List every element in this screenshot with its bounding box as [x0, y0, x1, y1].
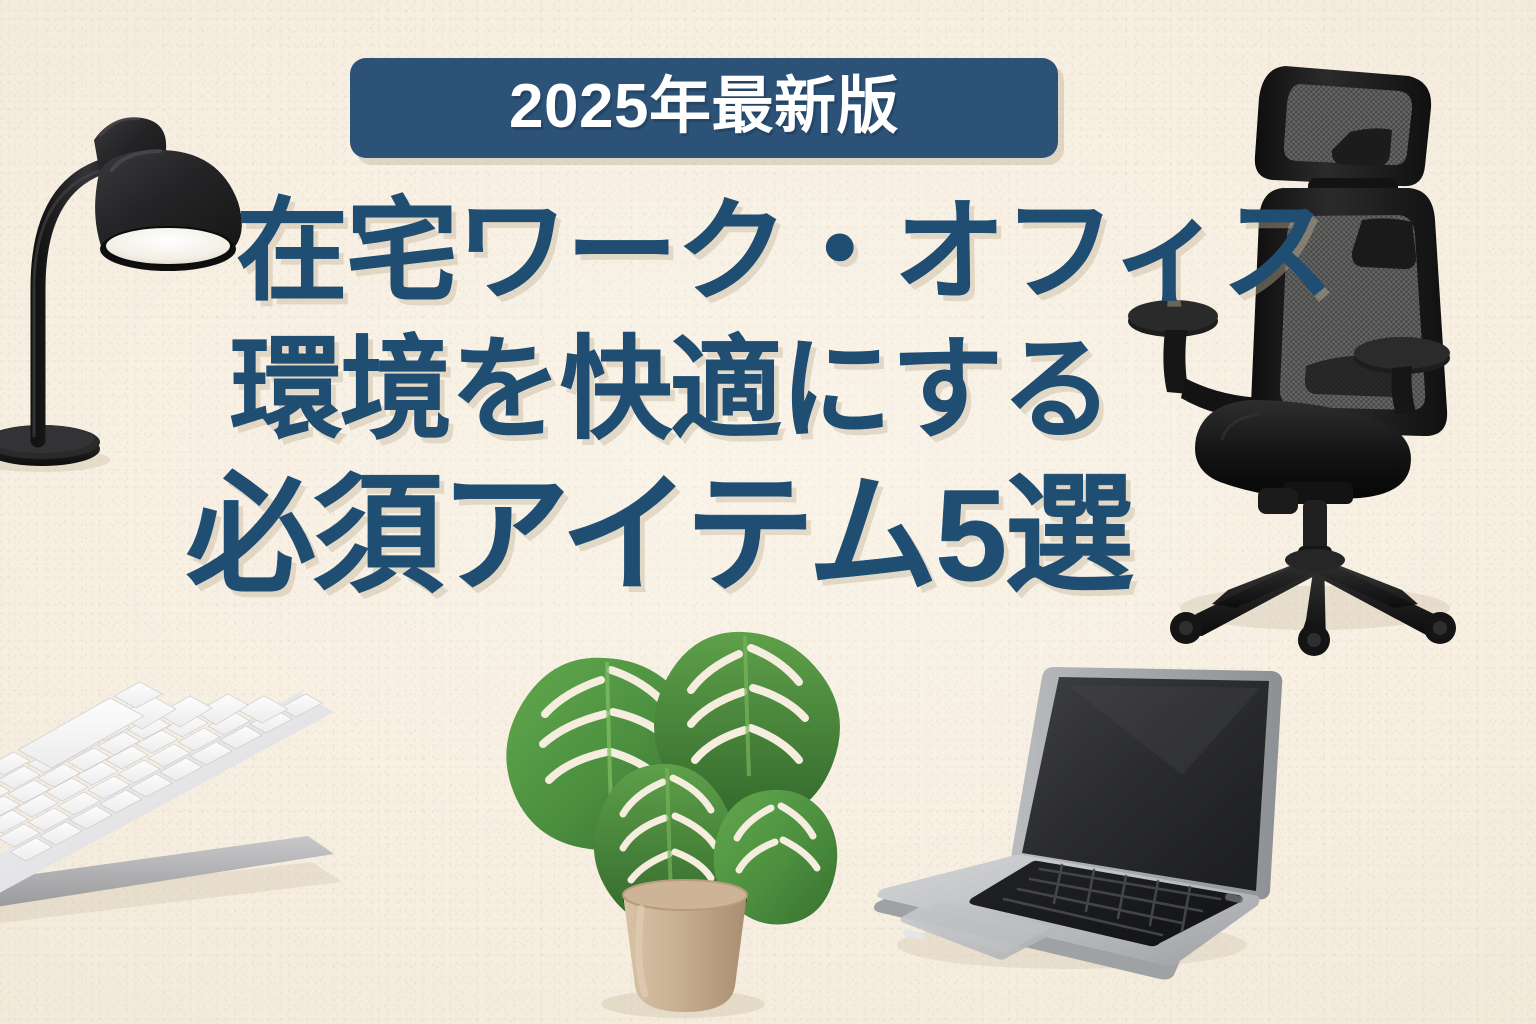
keyboard-illustration	[0, 686, 422, 946]
year-badge-row: 2025年最新版	[350, 58, 1058, 158]
year-badge-label: 2025年最新版	[509, 76, 899, 138]
headline-line-1: 在宅ワーク・オフィス	[236, 196, 1332, 308]
monstera-plant-illustration	[455, 618, 865, 1024]
office-chair-illustration	[1140, 48, 1470, 648]
headline-line-3: 必須アイテム5選	[186, 470, 1131, 600]
year-badge: 2025年最新版	[350, 58, 1058, 158]
headline-line-2: 環境を快適にする	[230, 334, 1111, 446]
laptop-illustration	[862, 655, 1292, 985]
desk-lamp-illustration	[0, 60, 264, 480]
blog-header-banner: 2025年最新版 在宅ワーク・オフィス 環境を快適にする 必須アイテム5選	[0, 0, 1536, 1024]
